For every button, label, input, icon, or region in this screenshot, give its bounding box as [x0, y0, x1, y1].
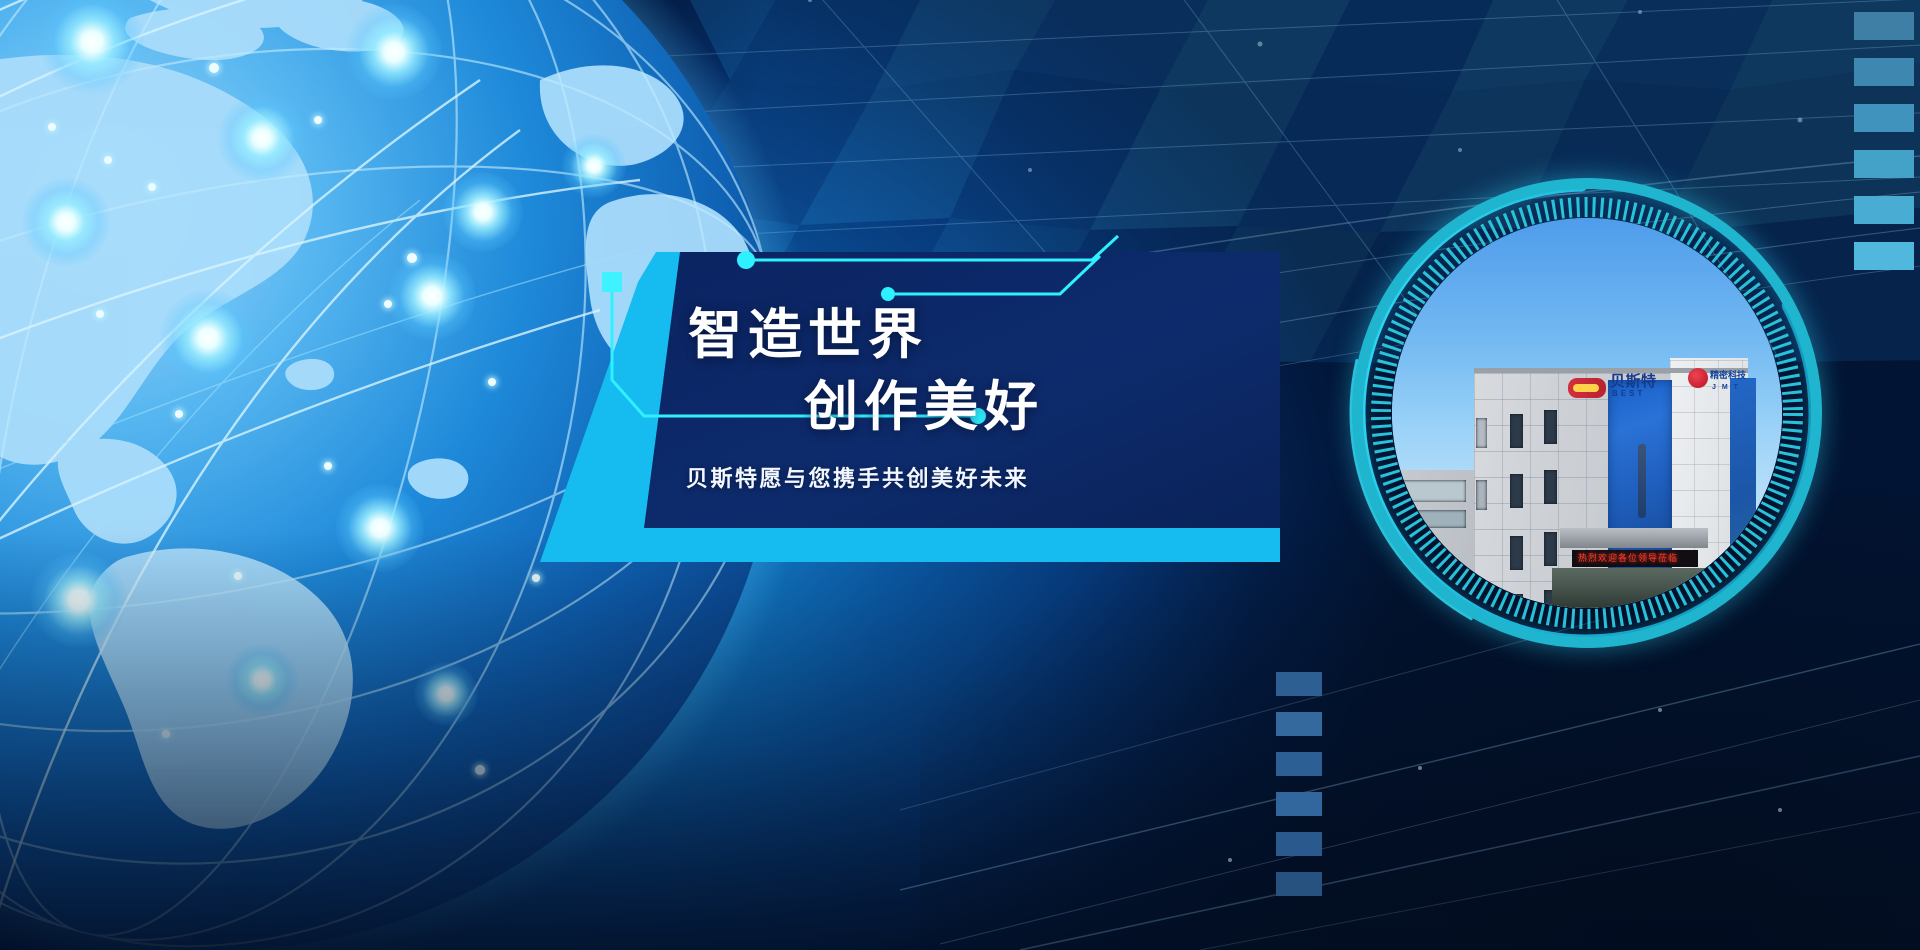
banner-subtitle: 贝斯特愿与您携手共创美好未来	[686, 464, 1029, 494]
vertical-bar	[1276, 672, 1322, 696]
hero-banner: 贝斯特 BEST 精密科技 J M T 热烈欢迎各位领导莅临	[0, 0, 1920, 950]
globe-network-dot	[314, 116, 322, 124]
vertical-bar	[1276, 792, 1322, 816]
edge-bar	[1854, 242, 1914, 270]
edge-bar	[1854, 150, 1914, 178]
banner-title-line-2: 创作美好	[804, 376, 1044, 438]
globe-glow-node	[388, 252, 476, 340]
ring-outer-border	[1352, 178, 1822, 648]
globe-network-dot	[407, 253, 417, 263]
globe-glow-node	[22, 178, 110, 266]
banner-text-block: 智造世界 创作美好 贝斯特愿与您携手共创美好未来	[540, 252, 1280, 562]
globe-glow-node	[40, 0, 144, 94]
bottom-vertical-bar-decor	[1276, 672, 1336, 950]
edge-bar	[1854, 12, 1914, 40]
globe-network-dot	[148, 183, 156, 191]
edge-bar	[1854, 196, 1914, 224]
vertical-bar	[1276, 752, 1322, 776]
globe-network-dot	[104, 156, 112, 164]
circular-photo-module: 贝斯特 BEST 精密科技 J M T 热烈欢迎各位领导莅临	[1352, 178, 1822, 648]
globe-network-dot	[384, 300, 392, 308]
globe-network-dot	[96, 310, 104, 318]
globe-network-dot	[48, 123, 56, 131]
banner-title-line-1: 智造世界	[688, 304, 928, 366]
vertical-bar	[1276, 832, 1322, 856]
globe-network-dot	[324, 462, 332, 470]
vertical-bar	[1276, 712, 1322, 736]
globe-glow-node	[443, 172, 523, 252]
globe-glow-node	[160, 290, 256, 386]
globe-glow-node	[218, 94, 306, 182]
globe-network-dot	[209, 63, 219, 73]
edge-bar	[1854, 58, 1914, 86]
globe-glow-node	[562, 134, 626, 198]
globe-network-dot	[175, 410, 183, 418]
globe-network-dot	[488, 378, 496, 386]
edge-bar	[1854, 104, 1914, 132]
vertical-bar	[1276, 872, 1322, 896]
globe-glow-node	[346, 4, 442, 100]
right-edge-bar-decor	[1840, 0, 1920, 300]
